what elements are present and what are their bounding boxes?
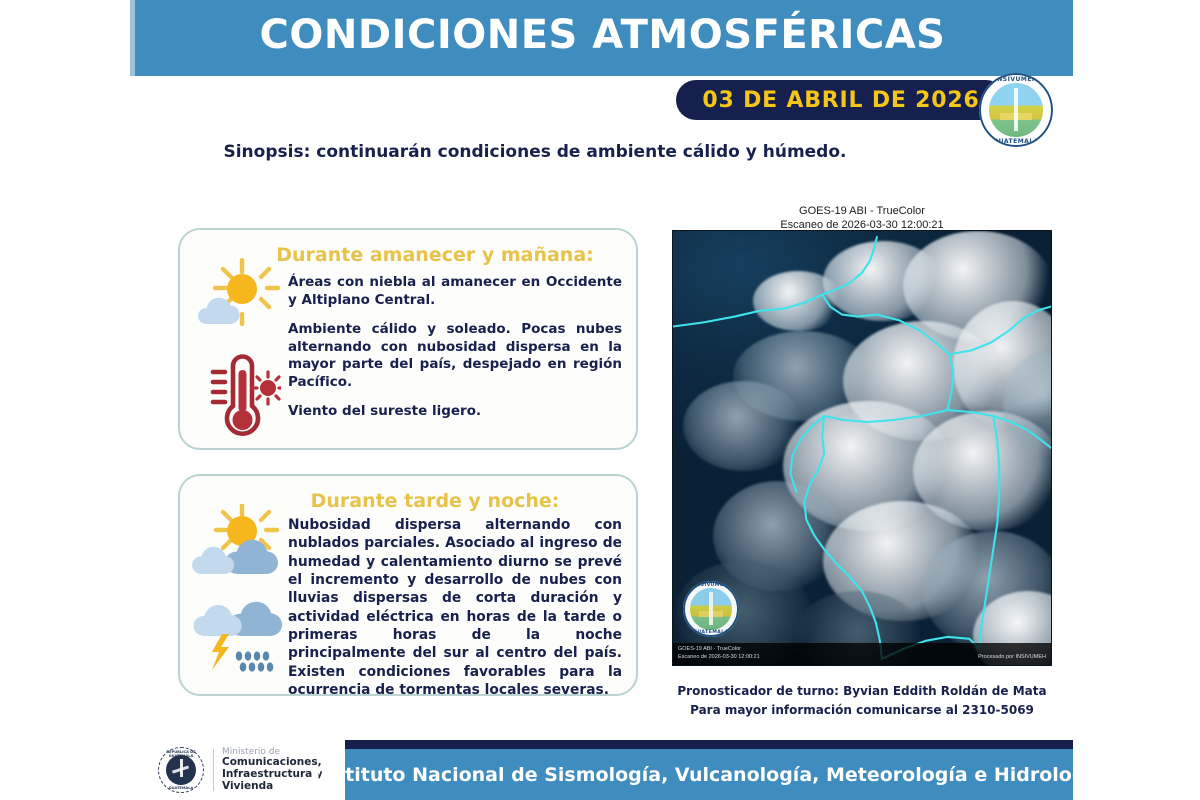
seal-bottom-text: GUATEMALA [683, 630, 739, 635]
satellite-watermark-line2: Escaneo de 2026-03-30 12:00:21 [678, 654, 760, 662]
insivumeh-watermark-logo: INSIVUMEH GUATEMALA [683, 581, 739, 637]
sun-behind-cloud-icon [188, 258, 288, 334]
satellite-image: INSIVUMEH GUATEMALA GOES-19 ABI - TrueCo… [672, 230, 1052, 666]
ministry-divider [213, 749, 214, 791]
forecast-paragraph: Áreas con niebla al amanecer en Occident… [288, 274, 622, 309]
forecast-paragraph: Ambiente cálido y soleado. Pocas nubes a… [288, 321, 622, 391]
card-heading-evening: Durante tarde y noche: [250, 490, 620, 512]
seal-bottom-text: GUATEMALA [979, 138, 1053, 145]
footer-bar: Instituto Nacional de Sismología, Vulcan… [345, 749, 1073, 800]
seal-emblem [690, 588, 731, 629]
forecaster-footnote: Pronosticador de turno: Byvian Eddith Ro… [660, 682, 1064, 719]
emblem-bottom-text: GUATEMALA [159, 786, 203, 790]
insivumeh-logo: INSIVUMEH GUATEMALA [979, 73, 1053, 147]
forecast-paragraph: Nubosidad dispersa alternando con nublad… [288, 516, 622, 699]
contact-info: Para mayor información comunicarse al 23… [660, 701, 1064, 720]
thermometer-hot-icon [188, 348, 288, 444]
page-title: CONDICIONES ATMOSFÉRICAS [150, 12, 1055, 58]
satellite-caption-line1: GOES-19 ABI - TrueColor [672, 205, 1052, 219]
ministry-branding: REPÚBLICA DE GUATEMALA GUATEMALA Ministe… [158, 742, 338, 798]
sun-behind-cloud-icon [188, 504, 288, 578]
date-badge-label: 03 DE ABRIL DE 2026 [702, 88, 979, 113]
synopsis-text: Sinopsis: continuarán condiciones de amb… [130, 142, 940, 162]
forecast-card-morning: Durante amanecer y mañana: [178, 228, 638, 450]
institute-name: Instituto Nacional de Sismología, Vulcan… [313, 764, 1105, 786]
footer-stripe [345, 740, 1073, 749]
card-body-evening: Nubosidad dispersa alternando con nublad… [288, 516, 622, 699]
forecast-card-evening: Durante tarde y noche: [178, 474, 638, 696]
seal-top-text: INSIVUMEH [683, 583, 739, 588]
card-icons-morning [188, 258, 288, 444]
ministry-name-line3: Vivienda [222, 781, 323, 793]
thunderstorm-rain-icon [188, 590, 288, 674]
card-body-morning: Áreas con niebla al amanecer en Occident… [288, 274, 622, 433]
card-icons-evening [188, 504, 288, 674]
header-bar-edge [130, 0, 135, 76]
satellite-watermark: GOES-19 ABI - TrueColor Escaneo de 2026-… [673, 643, 1051, 665]
forecast-paragraph: Viento del sureste ligero. [288, 403, 622, 421]
card-heading-morning: Durante amanecer y mañana: [250, 244, 620, 266]
guatemala-emblem-icon: REPÚBLICA DE GUATEMALA GUATEMALA [158, 747, 204, 793]
forecaster-name: Pronosticador de turno: Byvian Eddith Ro… [660, 682, 1064, 701]
emblem-core [166, 755, 197, 786]
seal-top-text: INSIVUMEH [979, 76, 1053, 83]
satellite-watermark-line1: GOES-19 ABI - TrueColor [678, 646, 760, 654]
satellite-watermark-credit: Procesado por INSIVUMEH [978, 654, 1046, 665]
ministry-text: Ministerio de Comunicaciones, Infraestru… [222, 747, 323, 792]
satellite-caption: GOES-19 ABI - TrueColor Escaneo de 2026-… [672, 205, 1052, 233]
satellite-watermark-left: GOES-19 ABI - TrueColor Escaneo de 2026-… [678, 646, 760, 665]
date-badge: 03 DE ABRIL DE 2026 [676, 80, 1006, 120]
